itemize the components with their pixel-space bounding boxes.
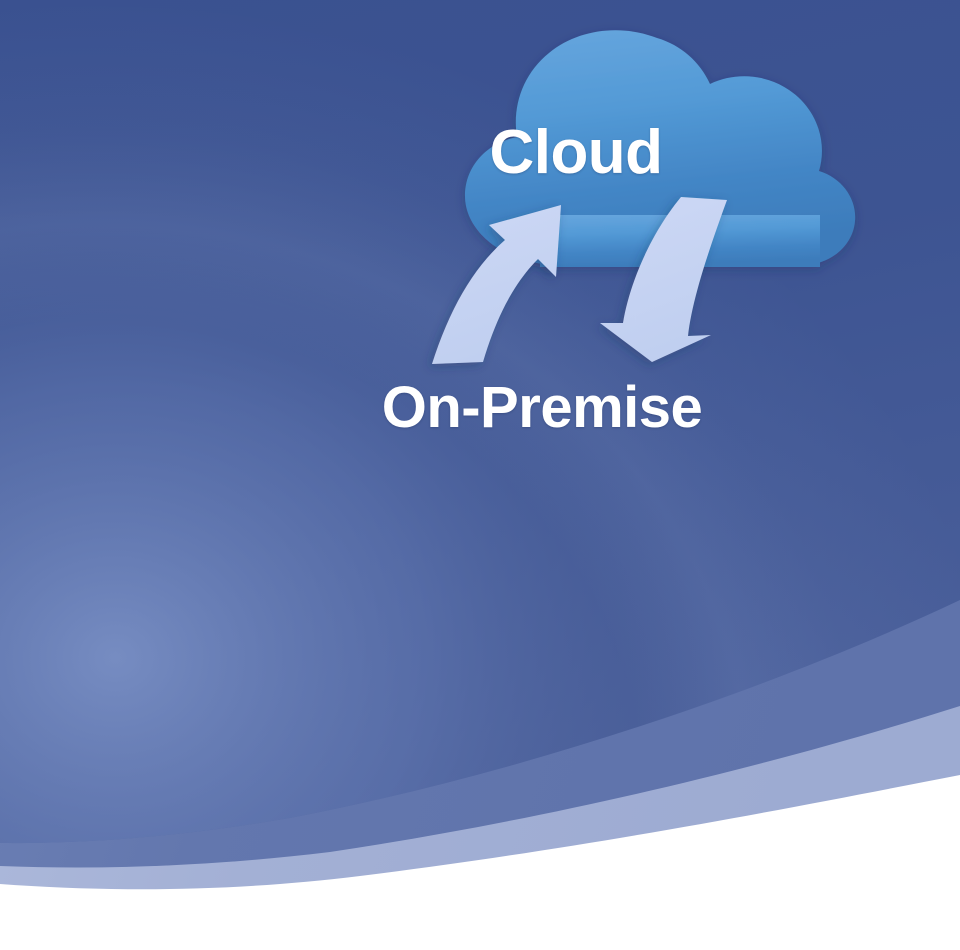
- cloud-label: Cloud: [96, 118, 960, 188]
- onpremise-label: On-Premise: [62, 375, 960, 441]
- slide-canvas: Cloud On-Premise: [0, 0, 960, 950]
